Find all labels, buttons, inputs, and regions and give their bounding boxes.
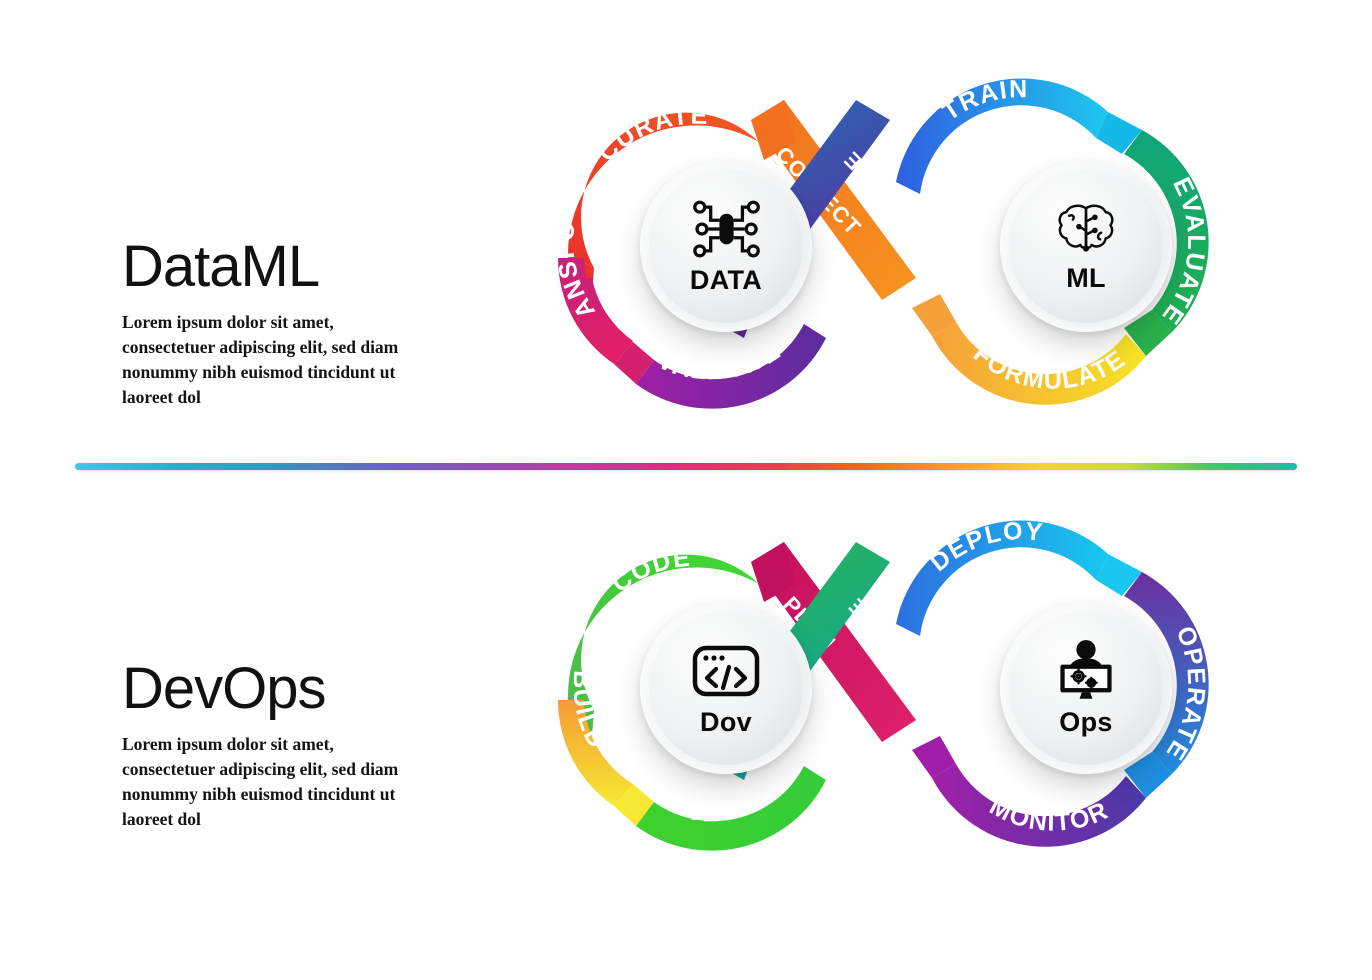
hub-ops[interactable]: Ops xyxy=(1000,602,1172,774)
segment-validate[interactable]: VALIDATE xyxy=(636,324,826,409)
rainbow-divider xyxy=(75,463,1297,470)
segment-test[interactable]: TEST xyxy=(636,766,826,851)
segment-label-code: CODE xyxy=(607,544,693,599)
data-chip-network-icon xyxy=(691,197,761,261)
devops-text-block: DevOps Lorem ipsum dolor sit amet, conse… xyxy=(0,660,470,831)
code-window-icon xyxy=(691,639,761,703)
brain-circuit-icon xyxy=(1056,199,1116,259)
dataml-text-block: DataML Lorem ipsum dolor sit amet, conse… xyxy=(0,238,470,409)
dataml-title: DataML xyxy=(0,238,470,296)
operator-monitor-gears-icon xyxy=(1051,639,1121,703)
hub-dov[interactable]: Dov xyxy=(640,602,812,774)
infographic-canvas: DataML Lorem ipsum dolor sit amet, conse… xyxy=(0,0,1372,980)
segment-label-curate: CURATE xyxy=(593,102,710,168)
hub-ml-label: ML xyxy=(1066,263,1106,294)
hub-data[interactable]: DATA xyxy=(640,160,812,332)
hub-ml[interactable]: ML xyxy=(1000,160,1172,332)
segment-label-transform: TRANSFORM xyxy=(485,20,601,323)
devops-title: DevOps xyxy=(0,660,470,718)
devops-description: Lorem ipsum dolor sit amet, consectetuer… xyxy=(0,732,422,831)
segment-transform[interactable]: TRANSFORM xyxy=(485,20,654,384)
segment-label-train: TRAIN xyxy=(937,75,1029,126)
dataml-description: Lorem ipsum dolor sit amet, consectetuer… xyxy=(0,310,422,409)
hub-data-label: DATA xyxy=(690,265,762,296)
hub-ops-label: Ops xyxy=(1059,707,1112,738)
hub-dov-label: Dov xyxy=(700,707,752,738)
